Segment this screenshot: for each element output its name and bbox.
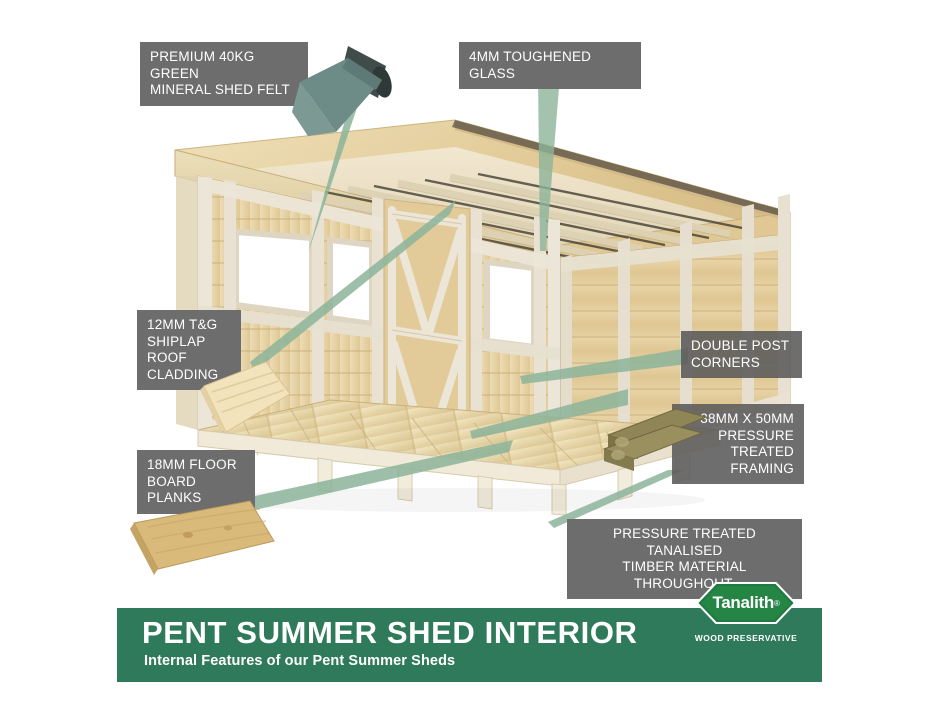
callout-felt-line2: MINERAL SHED FELT [150, 82, 298, 99]
callout-floor-line1: 18mm FLOOR [147, 457, 245, 474]
shed-feature-diagram: PREMIUM 40KG GREEN MINERAL SHED FELT 4mm… [0, 0, 940, 705]
pointer-posts [520, 340, 690, 390]
swatch-framing-battens [600, 395, 710, 475]
tanalith-tagline: WOOD PRESERVATIVE [690, 633, 802, 643]
pointer-floor [255, 440, 515, 520]
callout-glass: 4mm TOUGHENED GLASS [459, 42, 641, 89]
pointer-shiplap [250, 200, 460, 380]
callout-posts-line2: CORNERS [691, 355, 792, 372]
callout-felt-line1: PREMIUM 40KG GREEN [150, 49, 298, 82]
callout-glass-line1: 4mm TOUGHENED GLASS [469, 49, 631, 82]
swatch-shiplap-board [200, 360, 292, 436]
callout-felt: PREMIUM 40KG GREEN MINERAL SHED FELT [140, 42, 308, 106]
tanalith-brand-text: Tanalith [712, 593, 774, 613]
registered-mark: ® [774, 599, 780, 608]
tanalith-logo: Tanalith® WOOD PRESERVATIVE [690, 582, 802, 654]
callout-tanalised-line1: PRESSURE TREATED TANALISED [577, 526, 792, 559]
swatch-floor-plank [128, 495, 278, 580]
tanalith-hexagon-icon: Tanalith® [696, 582, 796, 624]
callout-posts-line1: DOUBLE POST [691, 338, 792, 355]
swatch-felt-roll [290, 40, 400, 140]
callout-shiplap-line1: 12mm T&G [147, 317, 231, 334]
pointer-glass [520, 75, 580, 255]
page-title: PENT SUMMER SHED INTERIOR [142, 616, 638, 650]
window-pane-right [487, 262, 534, 347]
tanalith-wordmark: Tanalith® [696, 582, 796, 624]
page-subtitle: Internal Features of our Pent Summer She… [144, 653, 455, 669]
callout-double-post-corners: DOUBLE POST CORNERS [681, 331, 802, 378]
